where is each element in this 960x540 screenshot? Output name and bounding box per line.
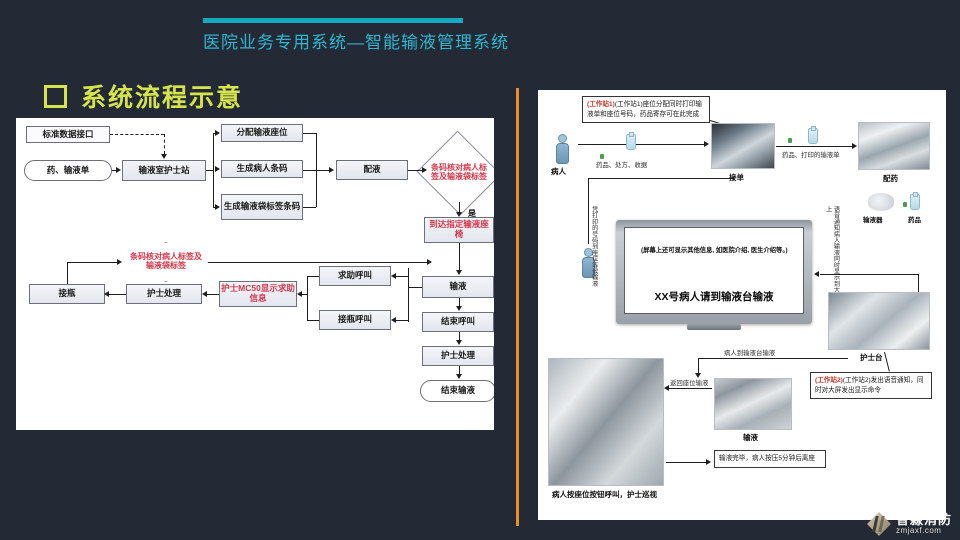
connector (578, 144, 704, 145)
photo-reception (711, 123, 775, 169)
arrow-head (814, 271, 819, 277)
connector (396, 320, 408, 321)
node-infusion: 输液 (422, 276, 494, 298)
connector (820, 274, 918, 275)
pill-icon (600, 154, 604, 159)
node-change-bottle: 接瓶 (29, 284, 105, 304)
node-end-infusion: 结束输液 (420, 380, 494, 402)
connector (67, 262, 68, 284)
connector (110, 134, 164, 135)
node-nurse-station: 输液室护士站 (122, 160, 206, 181)
logo-icon (867, 512, 891, 536)
node-bottle-call: 接瓶呼叫 (319, 310, 391, 330)
medicine-bottle-icon (626, 134, 636, 150)
slide-title: 医院业务专用系统—智能输液管理系统 (203, 28, 509, 53)
caption-nurse-desk: 护士台 (860, 352, 883, 363)
connector (208, 262, 407, 263)
callout-finish-note: 输液完毕，病人按压5分钟后离座 (714, 450, 826, 468)
arrow-head (215, 130, 220, 136)
arrow-head (116, 167, 121, 173)
arrow-head (664, 385, 669, 391)
medicine-bottle-icon (808, 128, 818, 144)
node-help-call: 求助呼叫 (319, 266, 391, 286)
connector (666, 462, 706, 463)
node-mc50-display: 护士MC50显示求助信息 (219, 281, 297, 307)
flowlabel-to-reception: 药品、处方、收据 (596, 160, 647, 169)
connector (307, 276, 308, 320)
node-nurse-handle-1: 护士处理 (126, 284, 202, 304)
section-header: 系统流程示意 (44, 78, 243, 114)
node-dispense: 配液 (336, 160, 408, 180)
vertical-label-left: 凭打印的号码到座位等候输液 (590, 206, 598, 302)
pill-icon (788, 138, 792, 143)
callout-keyword: (工作站1) (587, 101, 615, 108)
node-assign-seat: 分配输液座位 (221, 124, 303, 142)
caption-dispensing: 配药 (883, 173, 898, 184)
connector (668, 388, 712, 389)
arrow-head (427, 259, 432, 265)
connector (67, 262, 117, 263)
photo-waiting-room (548, 358, 664, 486)
connector (213, 133, 214, 207)
arrow-head (456, 306, 462, 311)
node-arrive-seat: 到达指定输液座椅 (424, 217, 494, 243)
connector (698, 358, 848, 359)
pill-icon (903, 202, 907, 207)
decision-label: 条码核对病人标签及输液袋标签 (127, 253, 204, 271)
arrow-head (104, 291, 109, 297)
person-body (556, 143, 569, 164)
connector (396, 276, 408, 277)
connector (303, 207, 316, 208)
node-standard-interface: 标准数据接口 (26, 126, 110, 143)
connector (408, 268, 409, 322)
connector (303, 170, 329, 171)
arrow-head (329, 167, 334, 173)
arrow-head (706, 459, 711, 465)
slide-canvas: 医院业务专用系统—智能输液管理系统 系统流程示意 标准数据接口 药、输液单 输液… (0, 0, 960, 540)
person-head (558, 134, 567, 143)
photo-infusion (714, 378, 792, 430)
photo-dispensing (858, 122, 930, 170)
connector (307, 320, 319, 321)
arrow-head (422, 167, 427, 173)
decision-barcode-check-1: 条码核对病人标签及输液袋标签 (428, 144, 490, 202)
arrow-head (297, 291, 302, 297)
node-drug-order: 药、输液单 (24, 160, 112, 181)
decision-label: 条码核对病人标签及输液袋标签 (430, 164, 487, 182)
connector (407, 262, 427, 263)
callout-workstation-1: (工作站1)(工作站1)座位分配同时打印输液单和座位号码，药品寄存可在此完成 (582, 96, 710, 123)
connector (307, 276, 319, 277)
arrow-head (161, 154, 167, 159)
arrow-head (852, 143, 857, 149)
node-nurse-handle-2: 护士处理 (422, 346, 494, 366)
arrow-head (202, 291, 207, 297)
arrow-head (391, 273, 396, 279)
photo-nurse-desk (828, 292, 930, 350)
connector (459, 243, 460, 271)
connector (408, 287, 422, 288)
node-gen-patient-barcode: 生成病人条码 (221, 160, 303, 178)
arrow-head (215, 204, 220, 210)
display-monitor: (屏幕上还可显示其他信息, 如医院介绍, 医生介绍等。) XX号病人请到输液台输… (616, 220, 812, 324)
watermark: 智淼消防 zmjaxf.com (867, 512, 952, 536)
arrow-head (456, 374, 462, 379)
callout-workstation-2: (工作站2)(工作站2)发出语音通知，同时对大屏发出显示命令 (810, 372, 932, 399)
arrow-head (456, 270, 462, 275)
section-title: 系统流程示意 (81, 78, 243, 114)
monitor-screen: (屏幕上还可显示其他信息, 如医院介绍, 医生介绍等。) XX号病人请到输液台输… (624, 227, 804, 314)
caption-infusion-set: 输液器 (863, 214, 883, 224)
workflow-diagram-panel: (工作站1)(工作站1)座位分配同时打印输液单和座位号码，药品寄存可在此完成 病… (538, 90, 946, 520)
node-end-call: 结束呼叫 (422, 312, 494, 332)
node-gen-bag-barcode: 生成输液袋标签条码 (221, 194, 303, 220)
connector (109, 294, 126, 295)
connector (303, 133, 316, 134)
vertical-label-right: 语音通知病人输液同时显示到大屏上 (824, 206, 840, 302)
square-bullet-icon (44, 85, 67, 108)
connector (776, 146, 852, 147)
flowlabel-back-to-seat: 返回座位输液 (670, 378, 708, 387)
connector (206, 294, 219, 295)
watermark-brand: 智淼消防 (896, 513, 952, 527)
flowchart: 标准数据接口 药、输液单 输液室护士站 分配输液座位 生成病人条码 生成输液袋标… (16, 118, 494, 430)
monitor-headline: XX号病人请到输液台输液 (625, 289, 803, 304)
workflow-diagram: (工作站1)(工作站1)座位分配同时打印输液单和座位号码，药品寄存可在此完成 病… (538, 90, 946, 520)
arrow-head (456, 212, 462, 217)
monitor-stand (687, 324, 741, 330)
caption-drugs: 药品 (908, 214, 921, 224)
decision-barcode-check-2: 条码核对病人标签及输液袋标签 (124, 242, 208, 282)
medicine-bottle-icon (910, 194, 920, 210)
connector (884, 352, 890, 372)
flowlabel-to-dispensing: 药品、打印的输液单 (782, 150, 840, 159)
arrow-head (117, 259, 122, 265)
photo-infusion-set (868, 193, 894, 211)
flowchart-panel: 标准数据接口 药、输液单 输液室护士站 分配输液座位 生成病人条码 生成输液袋标… (16, 118, 494, 430)
arrow-head (215, 166, 220, 172)
watermark-url: zmjaxf.com (896, 527, 952, 535)
vertical-divider (516, 88, 519, 526)
callout-keyword: (工作站2) (815, 377, 843, 384)
connector (588, 178, 589, 244)
caption-bottom: 病人按座位按钮呼叫，护士巡视 (552, 489, 657, 500)
connector (588, 178, 734, 179)
patient-figure-icon (556, 134, 569, 164)
flowlabel-to-desk: 病人到输液台输液 (724, 348, 775, 357)
title-underline-rule (203, 18, 463, 23)
arrow-head (391, 317, 396, 323)
connector (164, 134, 165, 154)
arrow-head (456, 340, 462, 345)
connector (698, 358, 699, 374)
watermark-text: 智淼消防 zmjaxf.com (896, 513, 952, 535)
monitor-note: (屏幕上还可显示其他信息, 如医院介绍, 医生介绍等。) (641, 247, 792, 256)
caption-infusion: 输液 (743, 432, 758, 443)
caption-patient: 病人 (551, 166, 566, 177)
arrow-head (704, 141, 709, 147)
